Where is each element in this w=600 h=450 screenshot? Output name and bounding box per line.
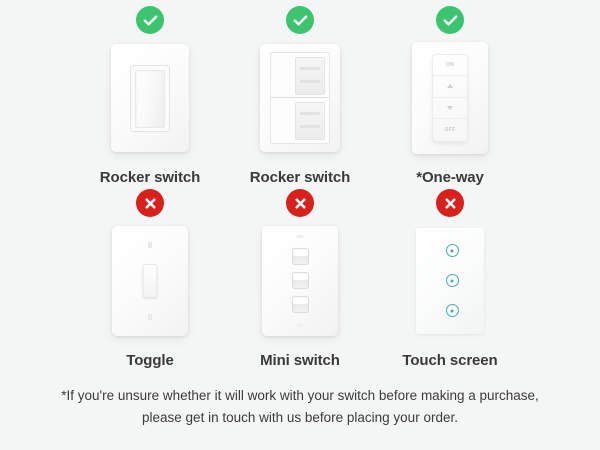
incompatible-row: Toggle: [0, 189, 600, 372]
switch-image-dimmer: ON OFF: [412, 28, 488, 167]
mini-button-stack: [262, 226, 338, 336]
cell-toggle-switch[interactable]: Toggle: [75, 189, 225, 372]
rocker-paddle-upper: [271, 53, 329, 98]
footnote-line-2: please get in touch with us before placi…: [142, 407, 458, 429]
wall-plate: [112, 226, 188, 336]
rocker-frame: [130, 65, 170, 132]
switch-image-rocker-single: [111, 28, 189, 167]
screw-bottom: [148, 314, 152, 320]
cell-rocker-switch-single[interactable]: Rocker switch: [75, 6, 225, 189]
switch-label: Toggle: [126, 350, 173, 372]
wall-plate: [111, 44, 189, 152]
dimmer-module: ON OFF: [432, 54, 468, 142]
touch-button-stack: [416, 228, 484, 334]
switch-image-rocker-dual: [260, 28, 340, 167]
paddle-face: [295, 102, 325, 140]
dimmer-dimmer-button: [433, 98, 467, 120]
switch-label: Rocker switch: [250, 167, 350, 189]
switch-label: Mini switch: [260, 350, 340, 372]
wall-plate: [262, 226, 338, 336]
switch-label: Touch screen: [402, 350, 497, 372]
touch-indicator-3: [446, 304, 459, 317]
x-circle-icon: [136, 189, 164, 217]
dimmer-on-button: ON: [433, 55, 467, 77]
toggle-lever: [143, 264, 158, 298]
chevron-down-icon: [447, 106, 453, 110]
rocker-paddle: [135, 70, 165, 128]
switch-image-mini: [262, 211, 338, 350]
cell-touch-screen-switch[interactable]: Touch screen: [375, 189, 525, 372]
footnote: *If you're unsure whether it will work w…: [0, 372, 600, 450]
switch-image-touch: [416, 211, 484, 350]
x-circle-icon: [286, 189, 314, 217]
plate-notch-bottom: [297, 324, 304, 327]
cell-rocker-switch-dual[interactable]: Rocker switch: [225, 6, 375, 189]
dimmer-brighter-button: [433, 76, 467, 98]
x-circle-icon: [436, 189, 464, 217]
mini-button-3: [292, 296, 309, 313]
compatible-row: Rocker switch: [0, 6, 600, 189]
touch-indicator-1: [446, 244, 459, 257]
wall-plate: [260, 44, 340, 152]
paddle-face: [295, 57, 325, 95]
dimmer-off-button: OFF: [433, 119, 467, 141]
switch-image-toggle: [112, 211, 188, 350]
screw-top: [148, 242, 152, 248]
wall-plate: ON OFF: [412, 42, 488, 154]
glass-panel: [416, 228, 484, 334]
switch-label: Rocker switch: [100, 167, 200, 189]
switch-grid: Rocker switch: [0, 0, 600, 372]
compatibility-board: Rocker switch: [0, 0, 600, 450]
mini-button-2: [292, 272, 309, 289]
dual-rocker-frame: [270, 52, 330, 144]
check-circle-icon: [436, 6, 464, 34]
check-circle-icon: [136, 6, 164, 34]
mini-button-1: [292, 248, 309, 265]
cell-one-way-switch[interactable]: ON OFF *One-way: [375, 6, 525, 189]
rocker-paddle-lower: [271, 98, 329, 143]
cell-mini-switch[interactable]: Mini switch: [225, 189, 375, 372]
check-circle-icon: [286, 6, 314, 34]
footnote-line-1: *If you're unsure whether it will work w…: [61, 385, 539, 407]
touch-indicator-2: [446, 274, 459, 287]
chevron-up-icon: [447, 84, 453, 88]
switch-label: *One-way: [416, 167, 484, 189]
